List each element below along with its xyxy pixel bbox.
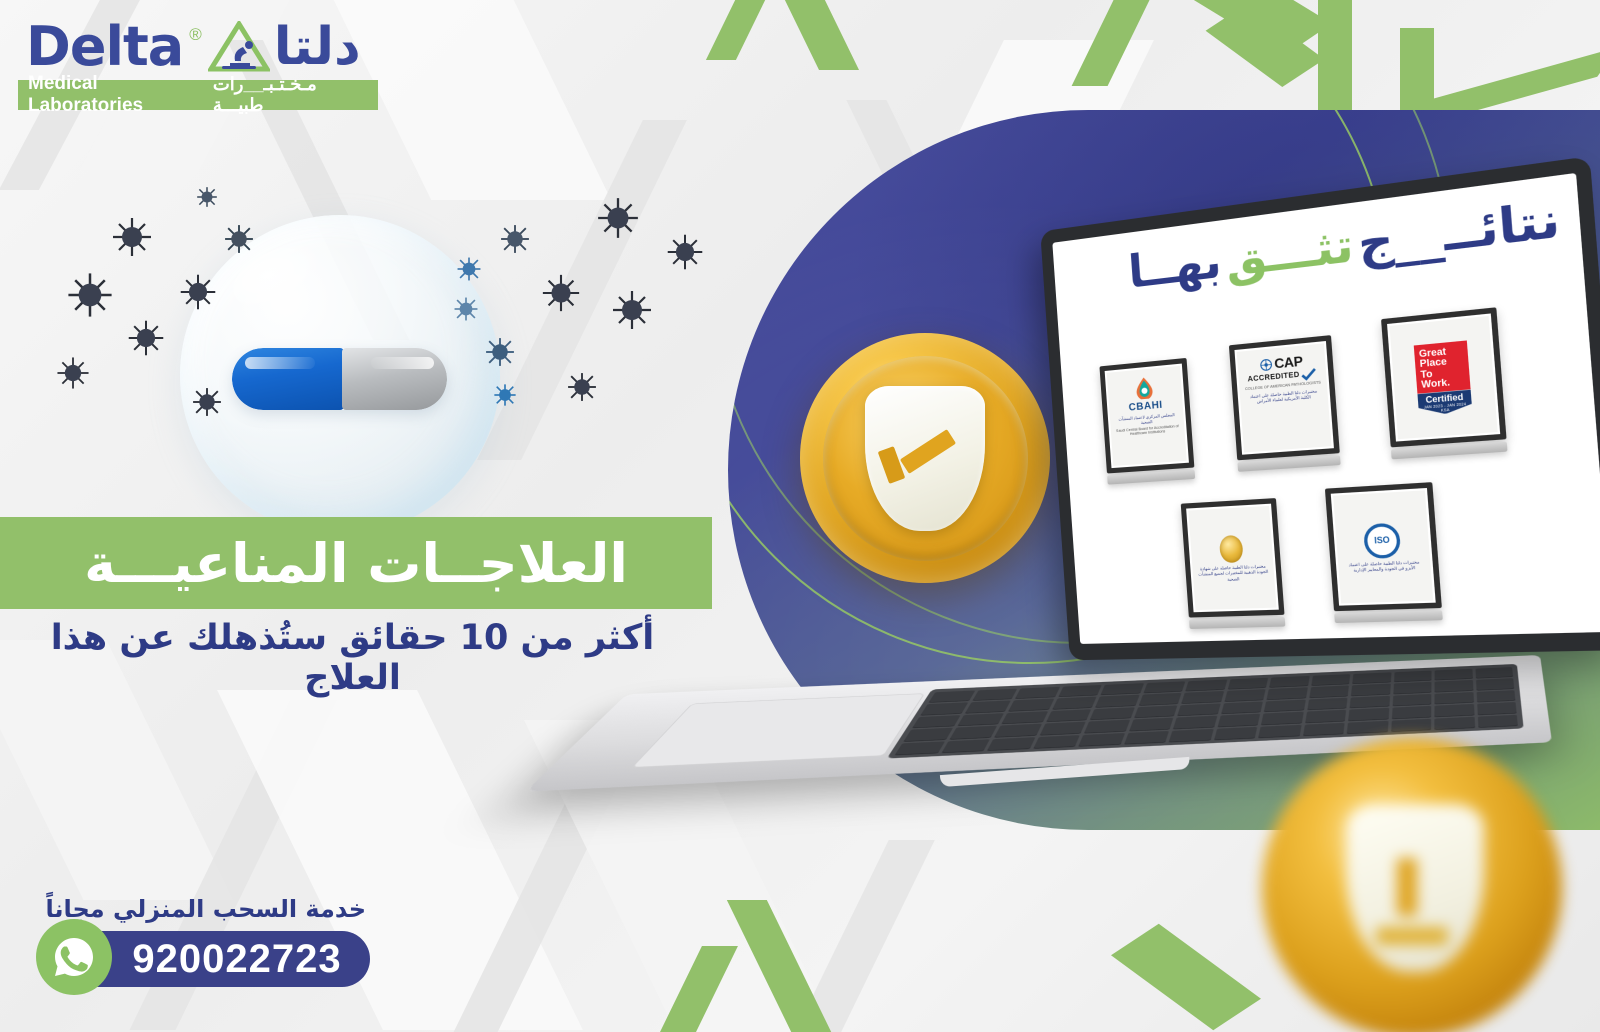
virus-icon	[126, 318, 166, 358]
logo-name-en: Delta	[26, 20, 183, 74]
gptw-line4: Work.	[1421, 376, 1466, 390]
virus-icon	[540, 272, 582, 314]
registered-mark-icon: ®	[189, 25, 202, 45]
title-banner: العلاجــات المناعيـــة	[0, 517, 712, 609]
capsule-pill-icon	[232, 348, 447, 410]
screen-heading-part1: نتائــ__ج	[1356, 191, 1562, 272]
virus-icon	[195, 185, 219, 209]
screen-heading-part3: بهــا	[1127, 235, 1224, 299]
logo-name-ar: دلتا	[274, 21, 361, 73]
title-text: العلاجــات المناعيـــة	[84, 532, 628, 595]
virus-icon	[492, 382, 518, 408]
gold-medal-icon	[1219, 535, 1244, 563]
certificate-frame-gold-medal: مختبرات دلتا الطبية حاصلة على شهادة الجو…	[1181, 498, 1286, 629]
gptw-badge-icon: Great Place To Work. Certified JAN 2023 …	[1414, 340, 1473, 416]
certificate-frame-gptw: Great Place To Work. Certified JAN 2023 …	[1381, 307, 1508, 459]
cap-checkmark-icon	[1301, 368, 1317, 381]
virus-icon	[498, 222, 532, 256]
gold-coin-blurred-icon	[1262, 738, 1562, 1032]
contact-label: خدمة السحب المنزلي مجاناً	[45, 895, 366, 923]
contact-block[interactable]: خدمة السحب المنزلي مجاناً 920022723	[28, 895, 388, 1000]
phone-pill[interactable]: 920022723	[70, 931, 370, 987]
logo-tagline-band: Medical Laboratories مـخـتـبـ__رات طبيــ…	[18, 80, 378, 110]
virus-icon	[565, 370, 599, 404]
cert-subtitle-ar: مختبرات دلتا الطبية حاصلة على اعتماد الأ…	[1344, 558, 1426, 573]
cert-name: CBAHI	[1128, 400, 1163, 414]
iso-seal-icon: ISO	[1363, 522, 1401, 559]
certificate-frame-cap: CAP ACCREDITED COLLEGE OF AMERICAN PATHO…	[1229, 335, 1341, 472]
virus-icon	[65, 270, 115, 320]
iso-label: ISO	[1374, 535, 1390, 546]
laptop-screen-bezel: نتائــ__ج تثـــق بهــا	[1040, 156, 1600, 660]
logo-tagline-ar: مـخـتـبـ__رات طبيـــة	[213, 74, 368, 116]
whatsapp-icon[interactable]	[36, 919, 112, 995]
laptop-screen-content: نتائــ__ج تثـــق بهــا	[1052, 173, 1600, 644]
subtitle-text: أكثر من 10 حقائق ستُذهلك عن هذا العلاج	[0, 618, 705, 698]
cap-globe-icon	[1259, 358, 1273, 372]
cbahi-droplet-icon	[1134, 376, 1155, 400]
brand-logo: Delta ® دلتا Medical Laboratories مـخـتـ…	[18, 16, 418, 111]
virus-icon	[222, 222, 256, 256]
cert-subtitle-ar: مختبرات دلتا الطبية حاصلة على شهادة الجو…	[1197, 563, 1269, 583]
screen-heading: نتائــ__ج تثـــق بهــا	[1068, 191, 1562, 305]
microscope-triangle-icon	[208, 21, 270, 73]
virus-icon	[483, 335, 517, 369]
virus-icon	[455, 255, 483, 283]
virus-icon	[55, 355, 91, 391]
laptop-trackpad	[631, 693, 925, 768]
virus-icon	[452, 295, 480, 323]
screen-heading-part2: تثـــق	[1224, 218, 1355, 288]
phone-number[interactable]: 920022723	[70, 931, 370, 987]
certificate-frame-iso: ISO مختبرات دلتا الطبية حاصلة على اعتماد…	[1325, 482, 1443, 623]
logo-tagline-en: Medical Laboratories	[28, 73, 213, 117]
virus-icon	[190, 385, 224, 419]
virus-icon	[595, 195, 641, 241]
certificate-frame-cbahi: CBAHI المجلس المركزي لاعتماد المنشآت الص…	[1099, 358, 1195, 485]
virus-icon	[178, 272, 218, 312]
advertisement-canvas: Delta ® دلتا Medical Laboratories مـخـتـ…	[0, 0, 1600, 1032]
virus-icon	[110, 215, 154, 259]
